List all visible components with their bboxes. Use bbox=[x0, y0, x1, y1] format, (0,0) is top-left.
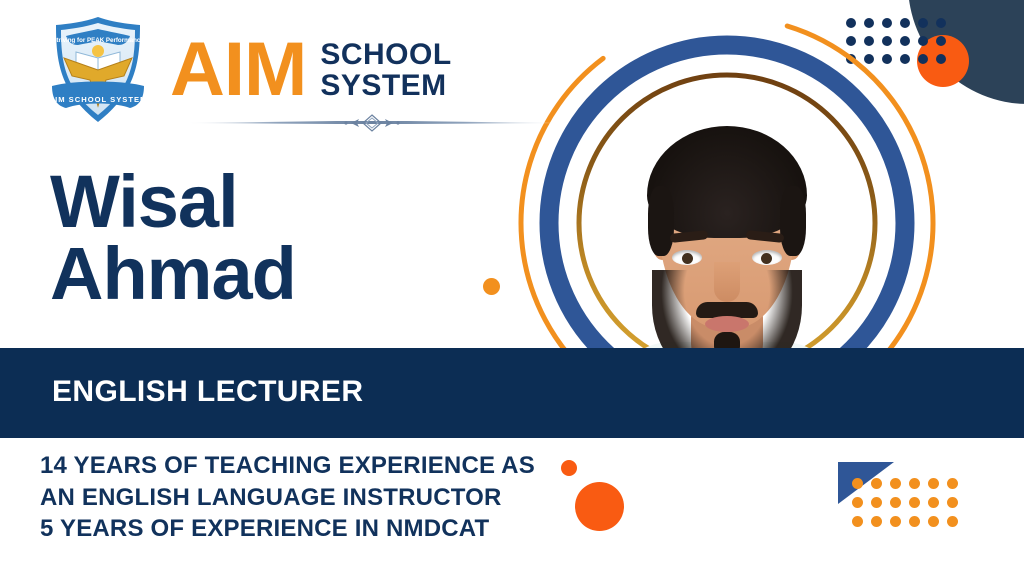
decor-dot bbox=[871, 478, 882, 489]
qualifications-list: 14 YEARS OF TEACHING EXPERIENCE AS AN EN… bbox=[40, 450, 535, 545]
ornamental-divider-icon bbox=[186, 112, 558, 134]
person-role: ENGLISH LECTURER bbox=[52, 375, 363, 409]
brand-wordmark: AIM SCHOOL SYSTEM bbox=[170, 36, 452, 104]
decor-dot bbox=[871, 516, 882, 527]
decor-dot bbox=[871, 497, 882, 508]
dot-grid-bottom-right bbox=[852, 478, 958, 527]
brand-school-system: SCHOOL SYSTEM bbox=[320, 39, 451, 101]
decor-dot bbox=[909, 478, 920, 489]
decor-dot bbox=[852, 516, 863, 527]
lecturer-profile-card: Striving for PEAK Performance AIM SCHOOL… bbox=[0, 0, 1024, 576]
portrait-lips bbox=[705, 316, 749, 332]
decor-dot bbox=[852, 497, 863, 508]
brand-logo[interactable]: Striving for PEAK Performance AIM SCHOOL… bbox=[44, 14, 452, 126]
shield-crest-icon: Striving for PEAK Performance AIM SCHOOL… bbox=[44, 14, 152, 126]
arc-tip-dot bbox=[483, 278, 500, 295]
person-name: Wisal Ahmad bbox=[50, 166, 296, 310]
qualification-line: 5 YEARS OF EXPERIENCE IN NMDCAT bbox=[40, 513, 535, 545]
decor-dot bbox=[928, 478, 939, 489]
decor-dot bbox=[928, 516, 939, 527]
accent-circle-small bbox=[561, 460, 577, 476]
decor-dot bbox=[947, 478, 958, 489]
decor-dot bbox=[909, 516, 920, 527]
decor-dot bbox=[852, 478, 863, 489]
role-banner-extension bbox=[855, 348, 1024, 438]
portrait-sideburn-left bbox=[648, 186, 674, 256]
decor-dot bbox=[890, 497, 901, 508]
crest-motto-text: Striving for PEAK Performance bbox=[52, 37, 144, 44]
decor-dot bbox=[928, 497, 939, 508]
portrait-pupil-right bbox=[761, 253, 772, 264]
portrait-sideburn-right bbox=[780, 186, 806, 256]
qualification-line: 14 YEARS OF TEACHING EXPERIENCE AS bbox=[40, 450, 535, 482]
brand-aim-text: AIM bbox=[170, 36, 306, 104]
accent-circle-large bbox=[575, 482, 624, 531]
decor-dot bbox=[947, 497, 958, 508]
portrait-pupil-left bbox=[682, 253, 693, 264]
portrait-nose bbox=[714, 262, 740, 302]
crest-ribbon-text: AIM SCHOOL SYSTEM bbox=[49, 95, 148, 104]
decor-dot bbox=[947, 516, 958, 527]
brand-school-line: SCHOOL bbox=[320, 39, 451, 70]
decor-dot bbox=[909, 497, 920, 508]
decor-dot bbox=[890, 478, 901, 489]
decor-dot bbox=[890, 516, 901, 527]
brand-system-line: SYSTEM bbox=[320, 70, 451, 101]
person-last-name: Ahmad bbox=[50, 238, 296, 310]
person-first-name: Wisal bbox=[50, 166, 296, 238]
crest-sun-icon bbox=[92, 45, 104, 57]
qualification-line: AN ENGLISH LANGUAGE INSTRUCTOR bbox=[40, 482, 535, 514]
